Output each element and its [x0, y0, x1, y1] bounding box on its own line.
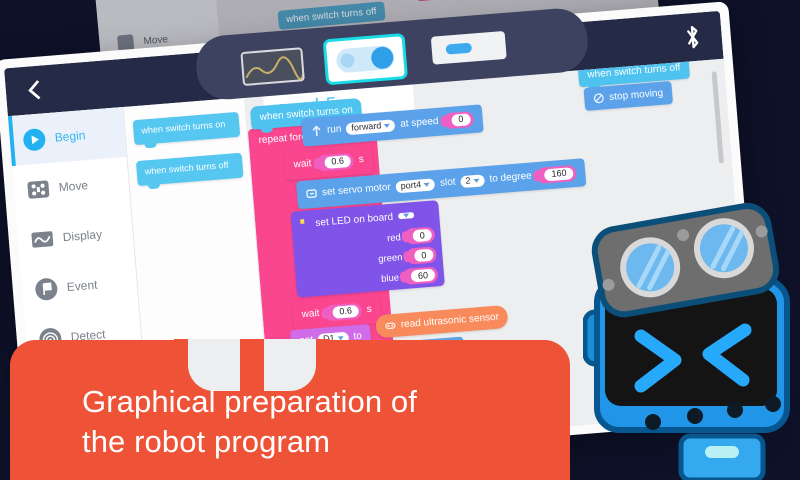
led-channel-green: green 0: [378, 246, 437, 267]
wait-input-2[interactable]: 0.6: [324, 303, 363, 322]
led-channel-red: red 0: [386, 226, 435, 246]
wait-input-1[interactable]: 0.6: [316, 153, 355, 172]
degree-value: 160: [544, 167, 574, 181]
arrow-up-icon: [311, 126, 323, 138]
dropdown-port-value: port4: [400, 180, 421, 192]
led-blue-input[interactable]: 60: [402, 266, 438, 285]
sidebar-item-label-display: Display: [62, 227, 102, 244]
wait-label-1: wait: [293, 159, 312, 171]
sidebar-item-label-begin: Begin: [54, 128, 86, 144]
bluetooth-icon[interactable]: [681, 23, 705, 51]
wait-value-2: 0.6: [332, 305, 359, 319]
screenshot-root: Move when switch turns off repeat foreve…: [0, 0, 800, 480]
robot-mascot: [583, 184, 800, 480]
led-green-value: 0: [414, 249, 434, 262]
stop-icon: [593, 92, 605, 104]
block-read-ultrasonic-sensor[interactable]: read ultrasonic sensor: [375, 305, 509, 339]
workspace-scrollbar[interactable]: [712, 71, 724, 163]
block-set-led-on-board[interactable]: set LED on board red 0 green 0: [290, 200, 444, 298]
wait-unit-1: s: [358, 154, 364, 165]
wait-value-1: 0.6: [324, 155, 351, 169]
run-label: run: [327, 124, 342, 136]
at-speed-label: at speed: [400, 116, 439, 130]
dropdown-direction-value: forward: [351, 121, 382, 133]
sidebar-item-event[interactable]: Event: [20, 257, 139, 316]
dropdown-slot[interactable]: 2: [460, 174, 485, 188]
led-channel-blue-label: blue: [381, 272, 400, 284]
palette-block-switch-on[interactable]: when switch turns on: [133, 112, 241, 145]
led-blue-value: 60: [411, 269, 436, 283]
servo-slot-label: slot: [440, 177, 456, 189]
graph-widget[interactable]: [240, 47, 305, 86]
dropdown-slot-value: 2: [465, 176, 471, 186]
sidebar-item-label-move: Move: [58, 178, 88, 194]
led-channel-red-label: red: [387, 232, 402, 244]
servo-degree-label: to degree: [489, 171, 532, 185]
led-channel-blue: blue 60: [381, 266, 439, 287]
wait-label-2: wait: [301, 308, 320, 320]
chevron-down-icon: [403, 213, 409, 217]
caption-banner: Graphical preparation of the robot progr…: [10, 340, 570, 480]
wait-unit-2: s: [366, 304, 372, 315]
sidebar-item-label-event: Event: [66, 278, 98, 294]
led-label: set LED on board: [315, 211, 393, 228]
dropdown-direction[interactable]: forward: [346, 119, 396, 135]
degree-input[interactable]: 160: [536, 165, 577, 184]
move-grid-icon: [26, 177, 51, 202]
caption-line-1: Graphical preparation of: [82, 382, 540, 422]
sensor-icon: [384, 320, 396, 332]
toggle-switch-widget[interactable]: [323, 33, 408, 85]
flag-circle-icon: [34, 276, 59, 301]
led-channel-green-label: green: [378, 252, 403, 265]
play-circle-icon: [22, 127, 47, 152]
background-sidebar-label: Move: [143, 34, 168, 47]
led-icon: [299, 216, 311, 231]
chevron-down-icon: [424, 183, 430, 187]
led-red-value: 0: [412, 229, 432, 242]
caption-text: Graphical preparation of the robot progr…: [82, 382, 540, 461]
chevron-down-icon: [384, 124, 390, 128]
dropdown-port[interactable]: port4: [395, 178, 435, 193]
caption-line-2: the robot program: [82, 422, 540, 462]
chevron-down-icon: [473, 179, 479, 183]
sidebar-item-begin[interactable]: Begin: [8, 107, 127, 166]
led-red-input[interactable]: 0: [404, 226, 435, 244]
led-green-input[interactable]: 0: [406, 246, 437, 264]
servo-icon: [306, 188, 318, 200]
slider-widget[interactable]: [431, 31, 507, 65]
waveform-icon: [30, 227, 55, 252]
speed-value: 0: [451, 113, 471, 126]
back-chevron-icon[interactable]: [23, 78, 47, 102]
speed-input[interactable]: 0: [443, 111, 474, 129]
dropdown-led[interactable]: [398, 212, 414, 219]
servo-label: set servo motor: [322, 182, 392, 198]
stop-moving-label: stop moving: [609, 88, 664, 103]
palette-block-switch-off[interactable]: when switch turns off: [136, 153, 244, 186]
read-ultrasonic-label: read ultrasonic sensor: [400, 312, 499, 331]
